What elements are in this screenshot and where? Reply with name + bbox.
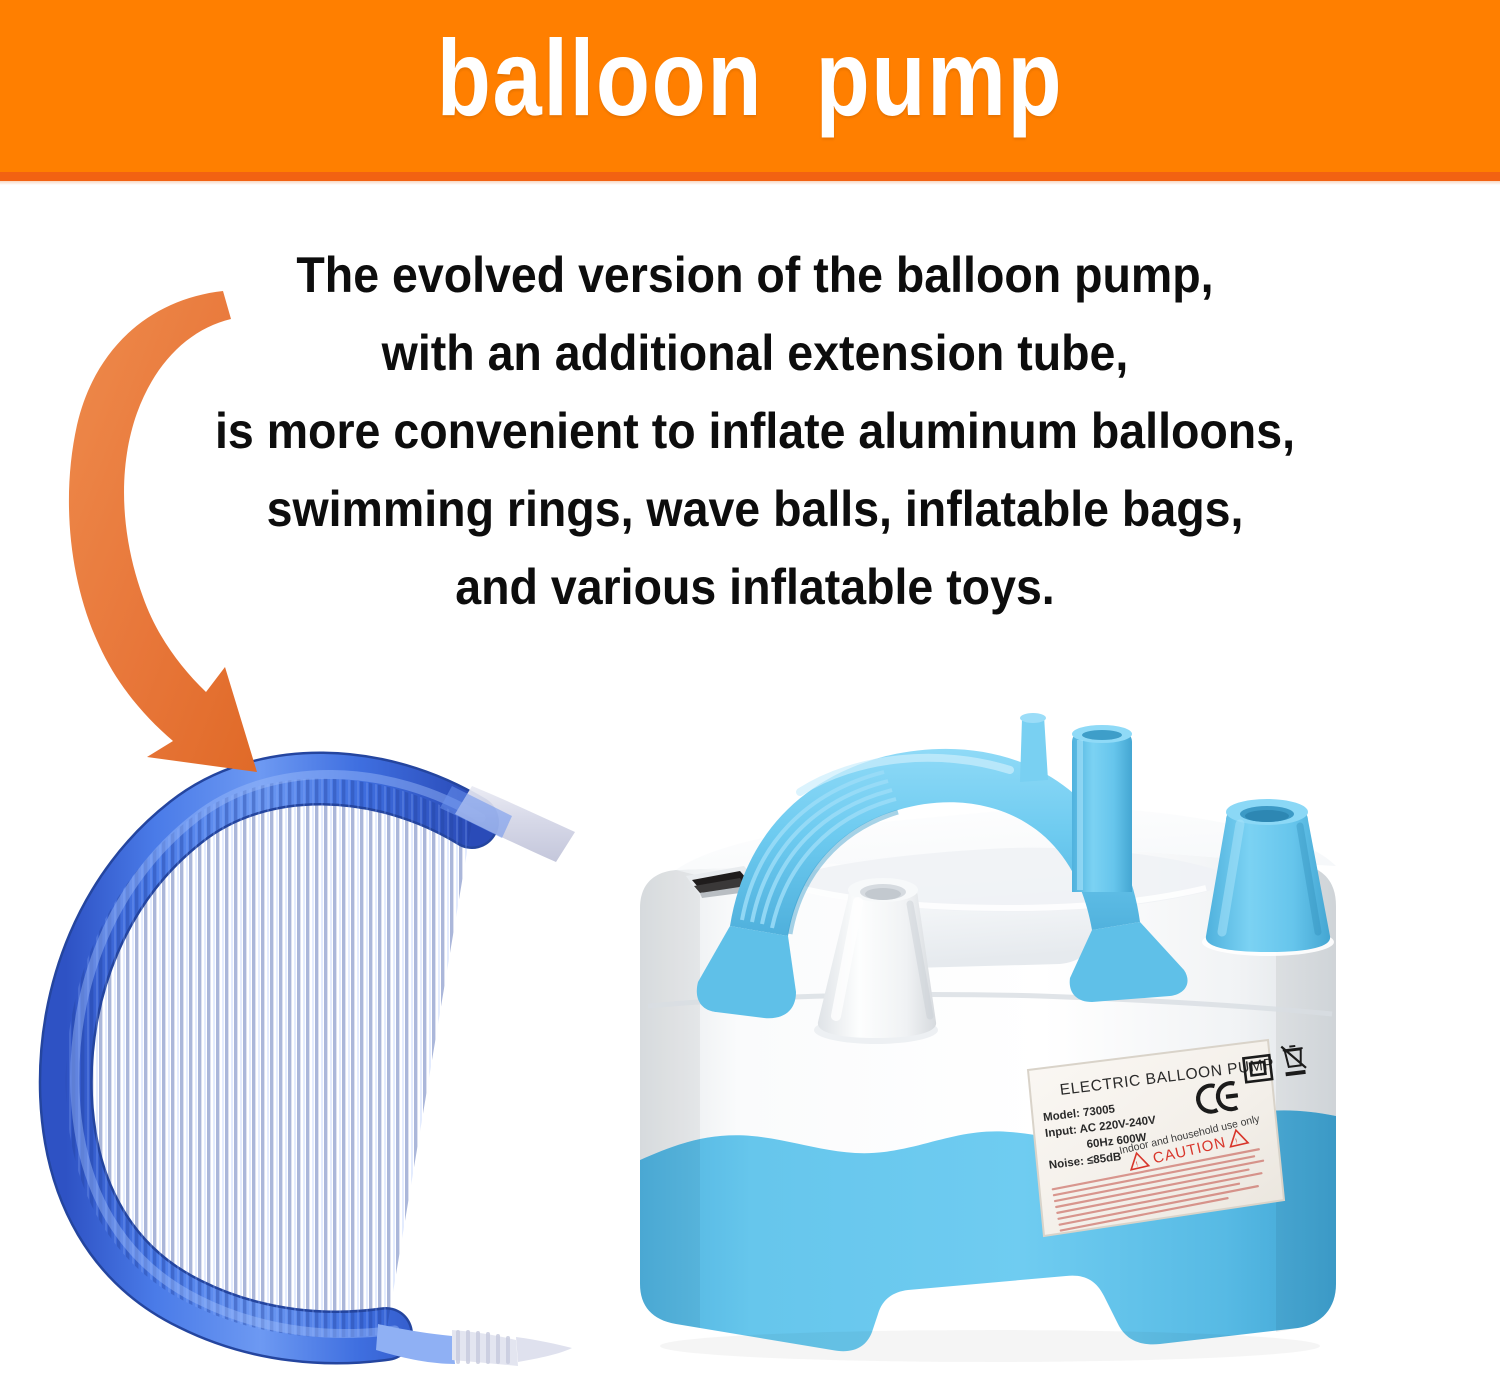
rear-small-nozzle — [1020, 713, 1048, 782]
header-banner: balloon pump — [0, 0, 1500, 172]
rear-air-tube — [1072, 725, 1132, 892]
header-underline — [0, 172, 1500, 181]
page-title: balloon pump — [135, 18, 1365, 138]
header-underline-shadow — [0, 181, 1500, 185]
description-block: The evolved version of the balloon pump,… — [140, 236, 1370, 626]
description-line-2: with an additional extension tube, — [183, 314, 1327, 392]
description-line-1: The evolved version of the balloon pump, — [183, 236, 1327, 314]
description-line-5: and various inflatable toys. — [183, 548, 1327, 626]
description-line-4: swimming rings, wave balls, inflatable b… — [183, 470, 1327, 548]
description-line-3: is more convenient to inflate aluminum b… — [183, 392, 1327, 470]
pump-shadow — [660, 1330, 1320, 1362]
